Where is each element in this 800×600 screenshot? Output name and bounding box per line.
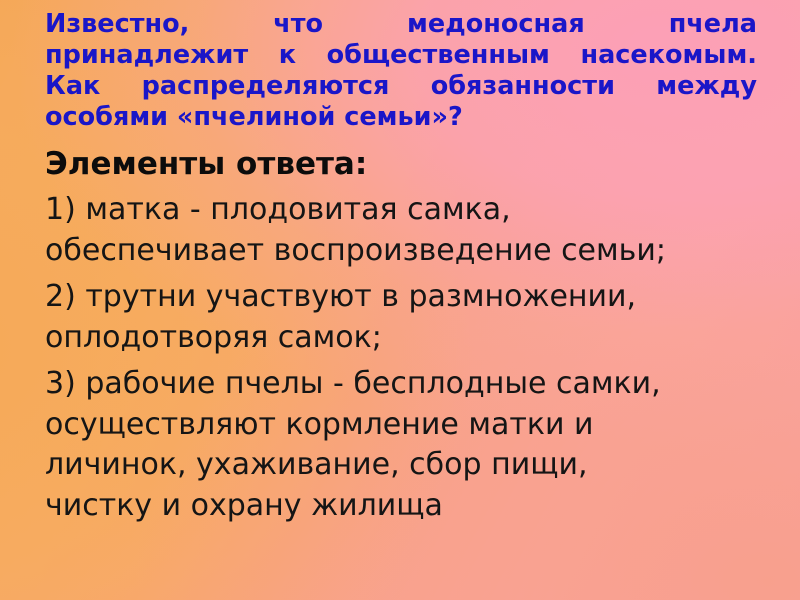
question-line-3: Как распределяются обязанности между (45, 71, 757, 102)
question-word: Известно, (45, 9, 189, 40)
question-word: распределяются (142, 71, 390, 102)
question-word: медоносная (407, 9, 585, 40)
answer-heading: Элементы ответа: (45, 144, 757, 184)
question-word: обязанности (431, 71, 615, 102)
answer-item-2: 2) трутни участвуют в размножении, оплод… (45, 277, 757, 358)
answer-item-1: 1) матка - плодовитая самка, обеспечивае… (45, 190, 757, 271)
question-word: Как (45, 71, 100, 102)
question-word: насекомым. (580, 40, 757, 71)
question-word: между (656, 71, 757, 102)
question-word: к (279, 40, 296, 71)
answer-item-line: осуществляют кормление матки и (45, 405, 757, 446)
question-word: принадлежит (45, 40, 248, 71)
question-line-4: особями «пчелиной семьи»? (45, 102, 757, 133)
presentation-slide: Известно, что медоносная пчела принадлеж… (0, 0, 800, 600)
answer-item-line: 1) матка - плодовитая самка, (45, 190, 757, 231)
answer-item-line: 3) рабочие пчелы - бесплодные самки, (45, 364, 757, 405)
question-line-2: принадлежит к общественным насекомым. (45, 40, 757, 71)
answer-item-line: обеспечивает воспроизведение семьи; (45, 231, 757, 272)
answer-item-line: оплодотворяя самок; (45, 318, 757, 359)
answer-item-line: 2) трутни участвуют в размножении, (45, 277, 757, 318)
question-block: Известно, что медоносная пчела принадлеж… (45, 0, 757, 133)
question-word: общественным (327, 40, 550, 71)
answer-item-3: 3) рабочие пчелы - бесплодные самки, осу… (45, 364, 757, 526)
question-line-1: Известно, что медоносная пчела (45, 9, 757, 40)
answer-item-line: личинок, ухаживание, сбор пищи, (45, 445, 757, 486)
question-word: что (273, 9, 323, 40)
slide-content: Известно, что медоносная пчела принадлеж… (45, 0, 757, 526)
answer-item-line: чистку и охрану жилища (45, 486, 757, 527)
question-word: пчела (669, 9, 757, 40)
